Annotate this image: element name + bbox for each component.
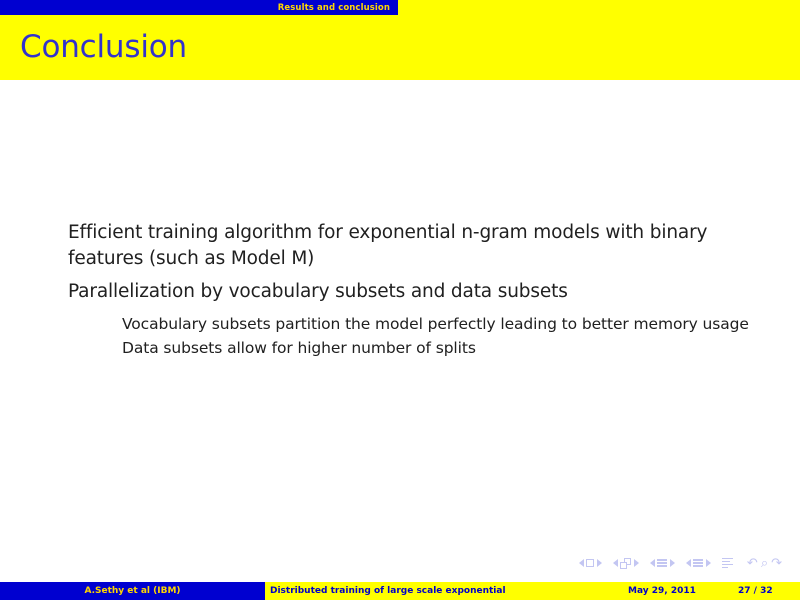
footer-bar: A.Sethy et al (IBM) Distributed training…: [0, 582, 800, 600]
section-navigation-group[interactable]: [686, 559, 711, 567]
bullet-item: Parallelization by vocabulary subsets an…: [68, 279, 780, 305]
sub-bullet-item: Data subsets allow for higher number of …: [122, 337, 762, 359]
sub-bullet-list: Vocabulary subsets partition the model p…: [122, 313, 780, 359]
back-icon[interactable]: ↶: [747, 557, 758, 570]
slide-navigation-group[interactable]: [579, 559, 602, 567]
top-navigation-bar: Results and conclusion: [0, 0, 800, 15]
beamer-navigation-symbols: ↶ ⌕ ↷: [0, 552, 800, 574]
frame-icon[interactable]: [620, 558, 631, 569]
title-band: Conclusion: [0, 15, 800, 80]
footer-page-number: 27 / 32: [738, 586, 773, 596]
content-block: Efficient training algorithm for exponen…: [68, 220, 780, 361]
search-icon[interactable]: ⌕: [761, 557, 768, 570]
presentation-document-icon[interactable]: [722, 558, 733, 569]
previous-slide-icon[interactable]: [579, 559, 584, 567]
subsection-icon[interactable]: [657, 559, 667, 567]
footer-talk-title: Distributed training of large scale expo…: [270, 586, 506, 596]
footer-author-label: A.Sethy et al (IBM): [84, 586, 180, 596]
page-title: Conclusion: [0, 32, 187, 63]
slide-icon[interactable]: [586, 559, 594, 567]
footer-date: May 29, 2011: [628, 586, 696, 596]
footer-author-section: A.Sethy et al (IBM): [0, 582, 265, 600]
previous-subsection-icon[interactable]: [650, 559, 655, 567]
frame-navigation-group[interactable]: [613, 558, 639, 569]
previous-section-icon[interactable]: [686, 559, 691, 567]
next-frame-icon[interactable]: [634, 559, 639, 567]
footer-title-section: Distributed training of large scale expo…: [265, 582, 800, 600]
next-subsection-icon[interactable]: [670, 559, 675, 567]
next-slide-icon[interactable]: [597, 559, 602, 567]
presentation-slide: Results and conclusion Conclusion Effici…: [0, 0, 800, 600]
section-icon[interactable]: [693, 559, 703, 567]
nav-section-results-and-conclusion[interactable]: Results and conclusion: [0, 0, 398, 15]
subsection-navigation-group[interactable]: [650, 559, 675, 567]
nav-section-label: Results and conclusion: [278, 3, 390, 13]
next-section-icon[interactable]: [706, 559, 711, 567]
history-navigation-group[interactable]: ↶ ⌕ ↷: [747, 557, 782, 570]
slide-body: Efficient training algorithm for exponen…: [0, 80, 800, 545]
sub-bullet-item: Vocabulary subsets partition the model p…: [122, 313, 762, 335]
forward-icon[interactable]: ↷: [771, 557, 782, 570]
previous-frame-icon[interactable]: [613, 559, 618, 567]
bullet-item: Efficient training algorithm for exponen…: [68, 220, 780, 271]
